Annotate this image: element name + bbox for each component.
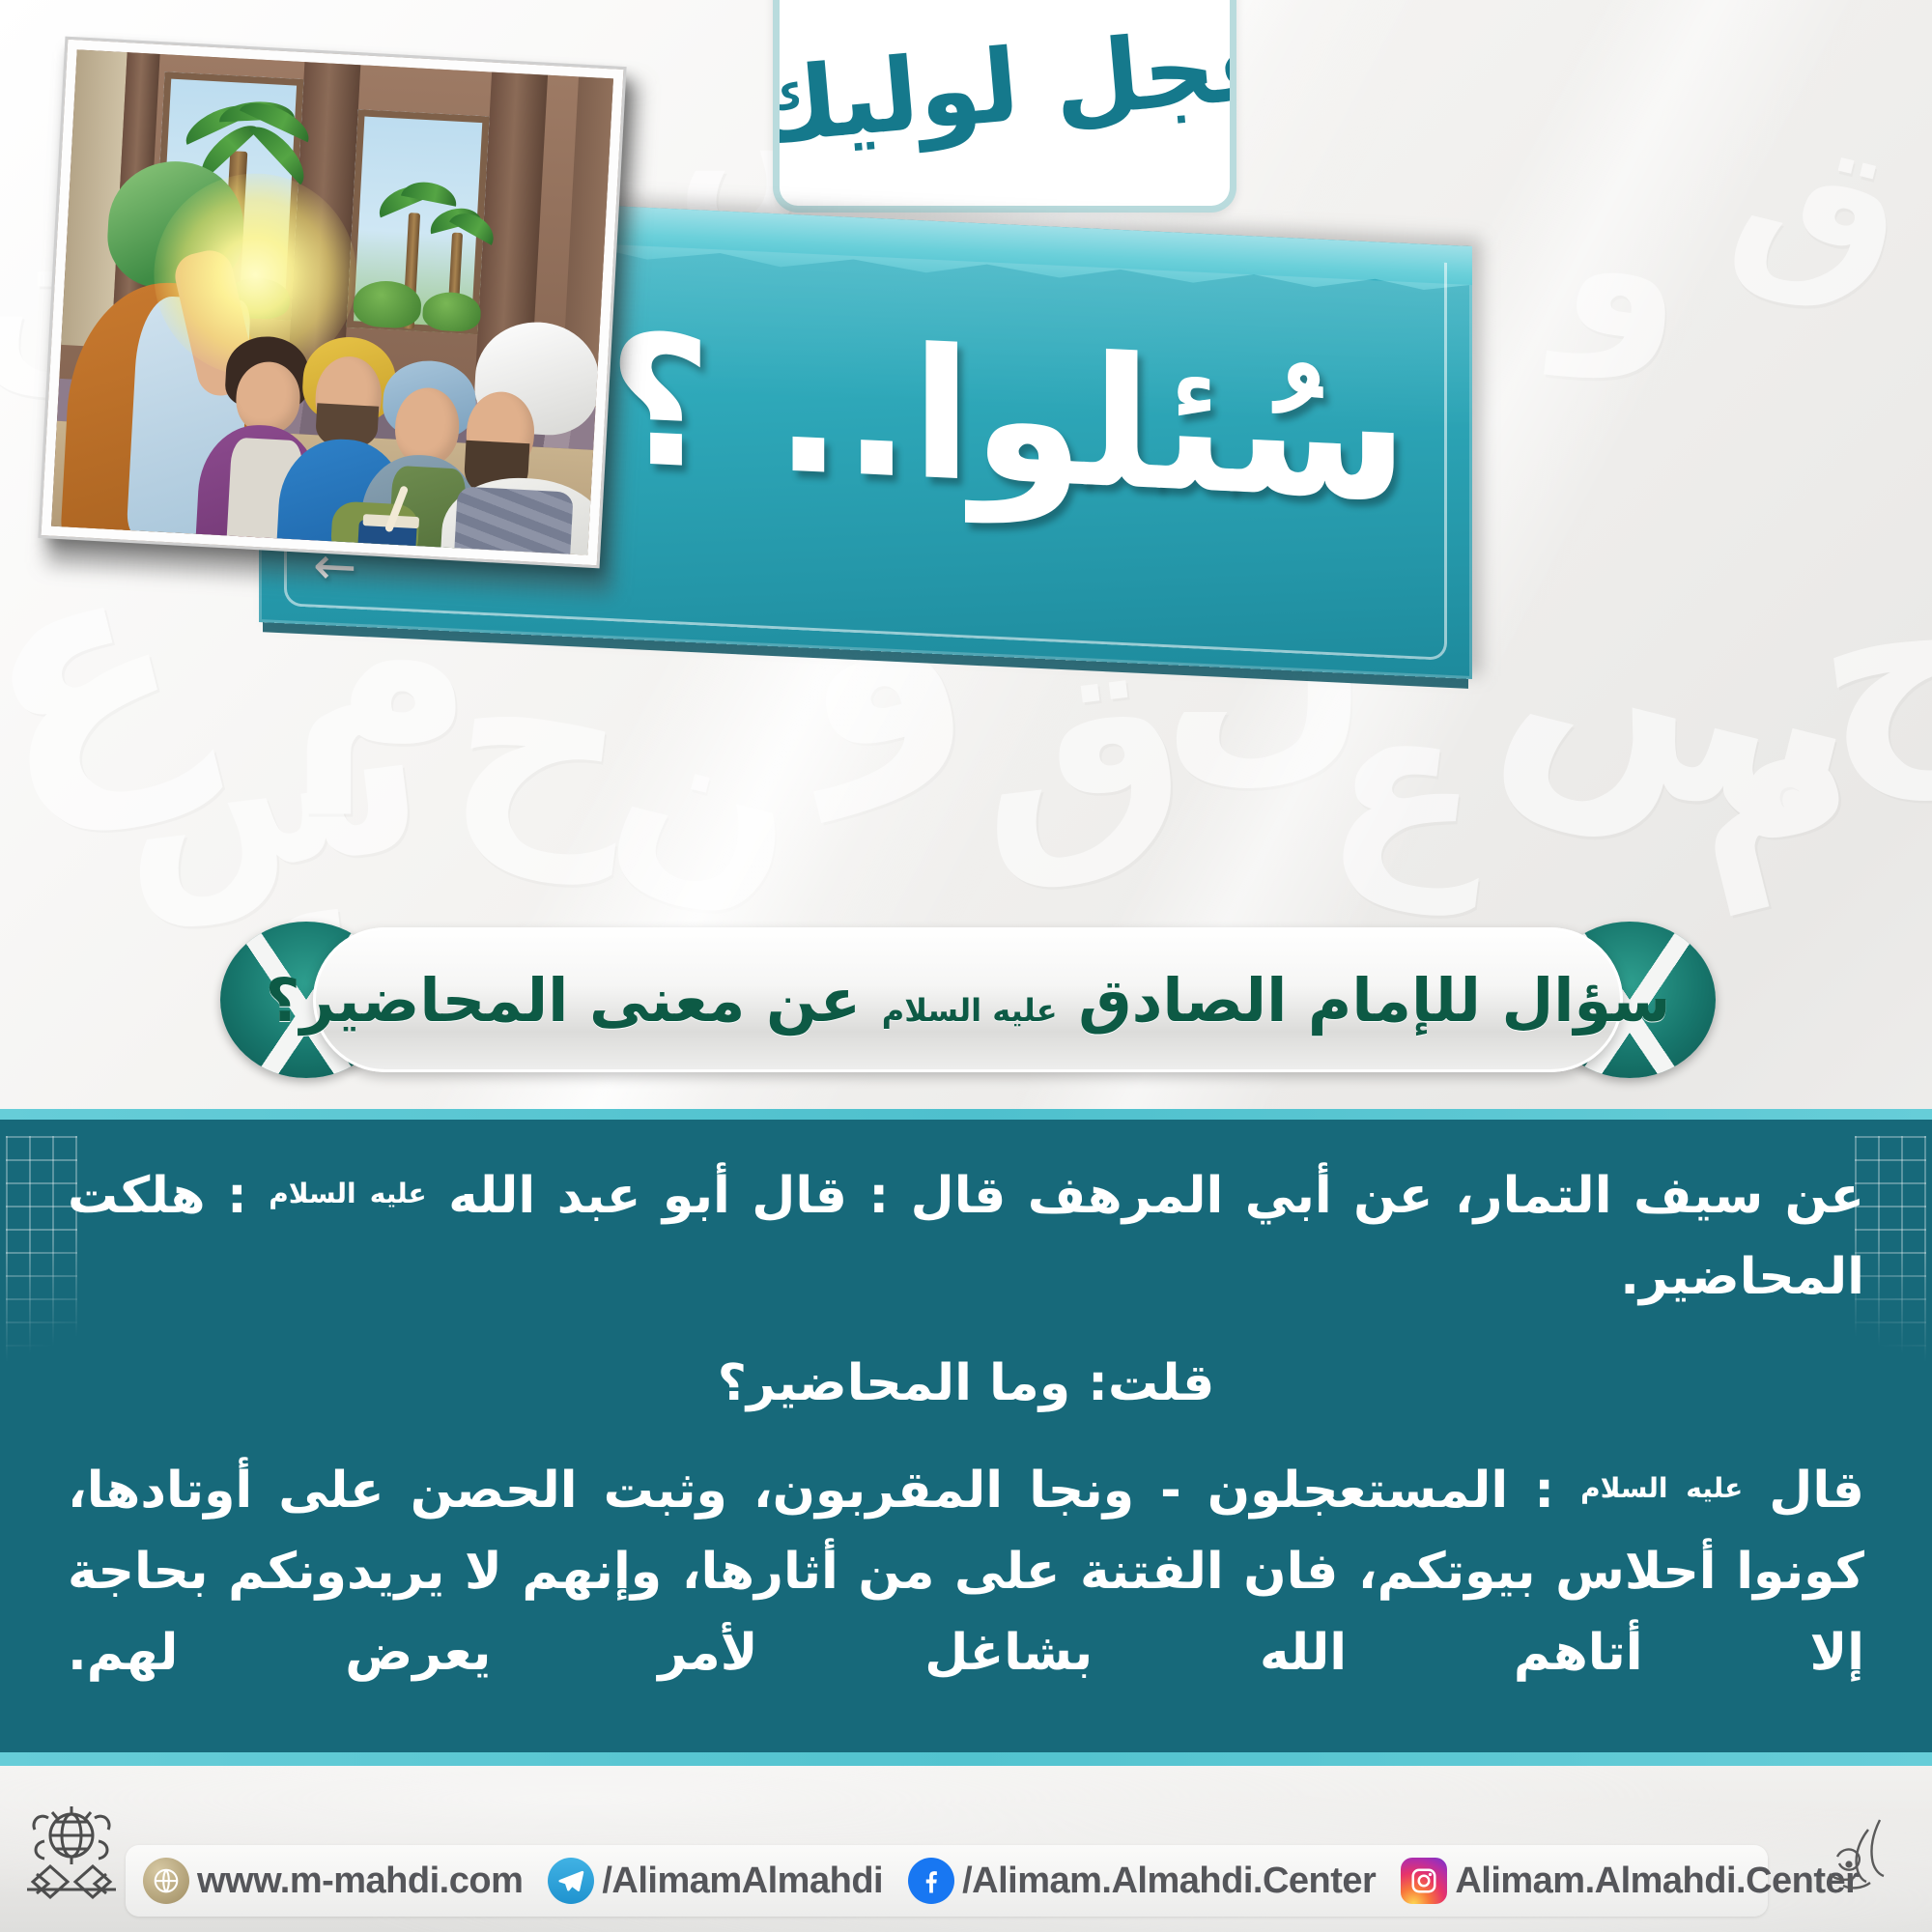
social-instagram[interactable]: Alimam.Almahdi.Center	[1401, 1858, 1859, 1904]
dot-grid-right	[1855, 1136, 1926, 1426]
hadith-line-1: عن سيف التمار، عن أبي المرهف قال : قال أ…	[68, 1155, 1864, 1318]
instagram-icon	[1401, 1858, 1447, 1904]
illustration-scene	[51, 49, 613, 554]
social-facebook[interactable]: /Alimam.Almahdi.Center	[908, 1858, 1376, 1904]
social-website[interactable]: www.m-mahdi.com	[143, 1858, 523, 1904]
poster-root: ﻉﺱﻡﺡﻥﻭﻕﻝﻉﺱﻡﺡﻥﻭﻕﻝﻉﺱﻡﺡﻥﻭﻕﻝ اللهم عجل لوليك…	[0, 0, 1932, 1932]
question-salam: عليه السلام	[882, 992, 1058, 1029]
calligraphy-duaa-text: اللهم عجل لوليك الفرج	[773, 0, 1236, 183]
illustration-card	[54, 54, 634, 595]
question-text-after: عن معنى المحاضير؟	[266, 965, 862, 1036]
social-telegram-label: /AlimamAlmahdi	[602, 1861, 883, 1902]
illustration-frame	[42, 40, 624, 565]
m-mahdi-center-logo	[23, 1799, 120, 1915]
question-text-before: سؤال للإمام الصادق	[1078, 965, 1670, 1036]
hadith-panel: عن سيف التمار، عن أبي المرهف قال : قال أ…	[0, 1109, 1932, 1766]
telegram-icon	[548, 1858, 594, 1904]
arabic-seal-logo	[1820, 1814, 1903, 1907]
hadith-line-2: قلت: وما المحاضير؟	[68, 1343, 1864, 1424]
hadith-line-3-a: قال	[1769, 1462, 1864, 1520]
hadith-line-2-a: قلت: وما المحاضير؟	[718, 1354, 1215, 1412]
hadith-line-1-salam: عليه السلام	[269, 1178, 426, 1209]
social-instagram-label: Alimam.Almahdi.Center	[1455, 1861, 1859, 1902]
social-telegram[interactable]: /AlimamAlmahdi	[548, 1858, 883, 1904]
facebook-icon	[908, 1858, 954, 1904]
dot-grid-left	[6, 1136, 77, 1426]
footer: www.m-mahdi.com /AlimamAlmahdi /Alimam.A…	[0, 1766, 1932, 1932]
hadith-line-1-a: عن سيف التمار، عن أبي المرهف قال : قال أ…	[448, 1167, 1864, 1225]
hadith-line-3-salam: عليه السلام	[1580, 1472, 1743, 1504]
footer-social-strip: www.m-mahdi.com /AlimamAlmahdi /Alimam.A…	[126, 1845, 1768, 1917]
question-bar: سؤال للإمام الصادق عليه السلام عن معنى ا…	[253, 920, 1683, 1082]
question-bar-body: سؤال للإمام الصادق عليه السلام عن معنى ا…	[313, 927, 1623, 1072]
hadith-line-3: قال عليه السلام : المستعجلون - ونجا المق…	[68, 1450, 1864, 1694]
globe-icon	[143, 1858, 189, 1904]
panel-bottom-edge	[0, 1752, 1932, 1766]
panel-top-edge	[0, 1109, 1932, 1120]
social-website-label: www.m-mahdi.com	[197, 1861, 523, 1902]
social-facebook-label: /Alimam.Almahdi.Center	[962, 1861, 1376, 1902]
question-text: سؤال للإمام الصادق عليه السلام عن معنى ا…	[266, 965, 1671, 1036]
hadith-text: عن سيف التمار، عن أبي المرهف قال : قال أ…	[68, 1155, 1864, 1719]
calligraphy-card: اللهم عجل لوليك الفرج	[773, 0, 1236, 213]
